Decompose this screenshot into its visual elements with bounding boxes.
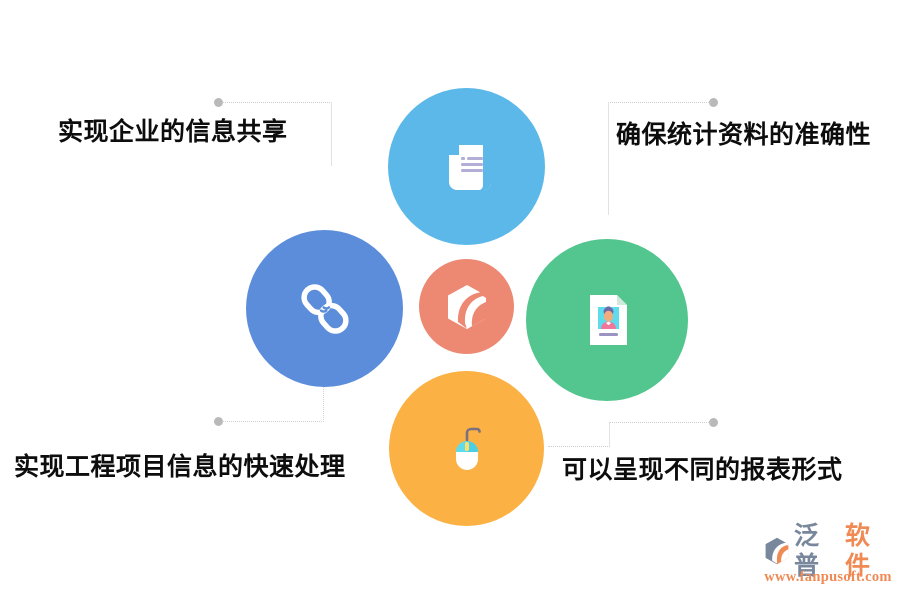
connector-line-top-right-horizontal [608,102,711,103]
brand-url: www.fanpusoft.com [762,569,894,586]
connector-line-bottom-left-horizontal [222,421,324,422]
node-circle-center[interactable] [419,259,514,354]
label-top-left: 实现企业的信息共享 [58,120,288,145]
connector-line-bottom-right-horizontal-2 [548,446,610,447]
connector-line-bottom-right-vertical [609,422,610,446]
fanpu-hexagon-logo-icon [762,536,792,566]
node-circle-right[interactable] [526,239,688,401]
brand-logo-row: 泛普 软件 [762,534,894,568]
label-top-right: 确保统计资料的准确性 [616,123,871,148]
computer-mouse-icon [436,418,498,480]
label-bottom-right: 可以呈现不同的报表形式 [562,458,843,483]
chain-link-icon [292,276,358,342]
connector-line-top-left-vertical [331,102,332,166]
connector-line-top-left-horizontal [222,102,332,103]
connector-line-bottom-right-horizontal [609,422,711,423]
label-bottom-left: 实现工程项目信息的快速处理 [14,455,346,480]
fanpu-hexagon-logo-icon [442,282,492,332]
node-circle-top[interactable] [388,88,545,245]
id-card-document-icon [575,288,639,352]
infographic-canvas: 实现企业的信息共享 确保统计资料的准确性 实现工程项目信息的快速处理 可以呈现不… [0,0,900,600]
scroll-document-icon [435,135,499,199]
node-circle-left[interactable] [246,230,403,387]
node-circle-bottom[interactable] [389,371,544,526]
brand-logo: 泛普 软件 www.fanpusoft.com [762,534,894,590]
connector-line-top-right-vertical [608,102,609,215]
